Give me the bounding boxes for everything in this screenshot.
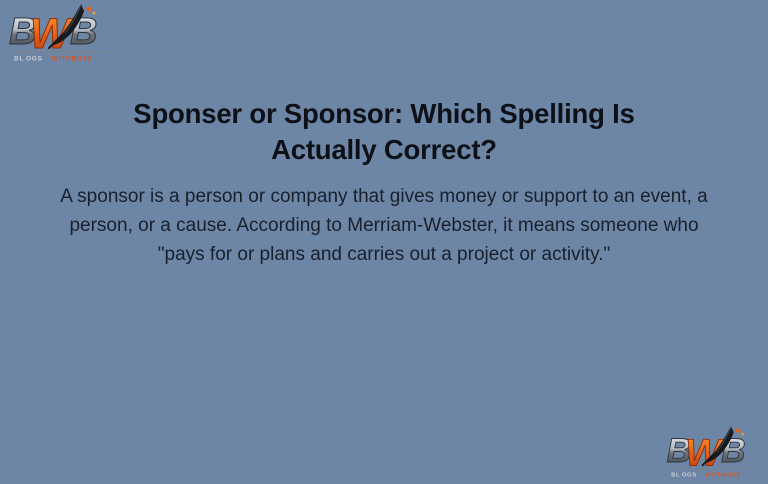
page-title: Sponser or Sponsor: Which Spelling Is Ac… [0, 96, 768, 168]
bwb-logo-top-left[interactable]: B W B BL OGS WITHBUZ [6, 2, 118, 64]
page-title-line-2: Actually Correct? [70, 132, 698, 168]
body-line-2: person, or a cause. According to Merriam… [40, 211, 728, 240]
svg-text:WITHBUZZ: WITHBUZZ [52, 56, 92, 63]
svg-text:OGS: OGS [26, 56, 43, 63]
svg-text:BL: BL [14, 56, 24, 63]
bwb-logo-bottom-right[interactable]: B W B BL OGS WITHBUZZ [664, 424, 764, 480]
svg-text:BL: BL [671, 473, 680, 479]
body-line-3: "pays for or plans and carries out a pro… [40, 240, 728, 269]
page-title-line-1: Sponser or Sponsor: Which Spelling Is [70, 96, 698, 132]
body-line-1: A sponsor is a person or company that gi… [40, 182, 728, 211]
svg-text:WITHBUZZ: WITHBUZZ [705, 473, 741, 479]
body-paragraph: A sponsor is a person or company that gi… [0, 182, 768, 269]
svg-text:OGS: OGS [682, 473, 697, 479]
slide-canvas: B W B BL OGS WITHBUZ [0, 0, 768, 484]
